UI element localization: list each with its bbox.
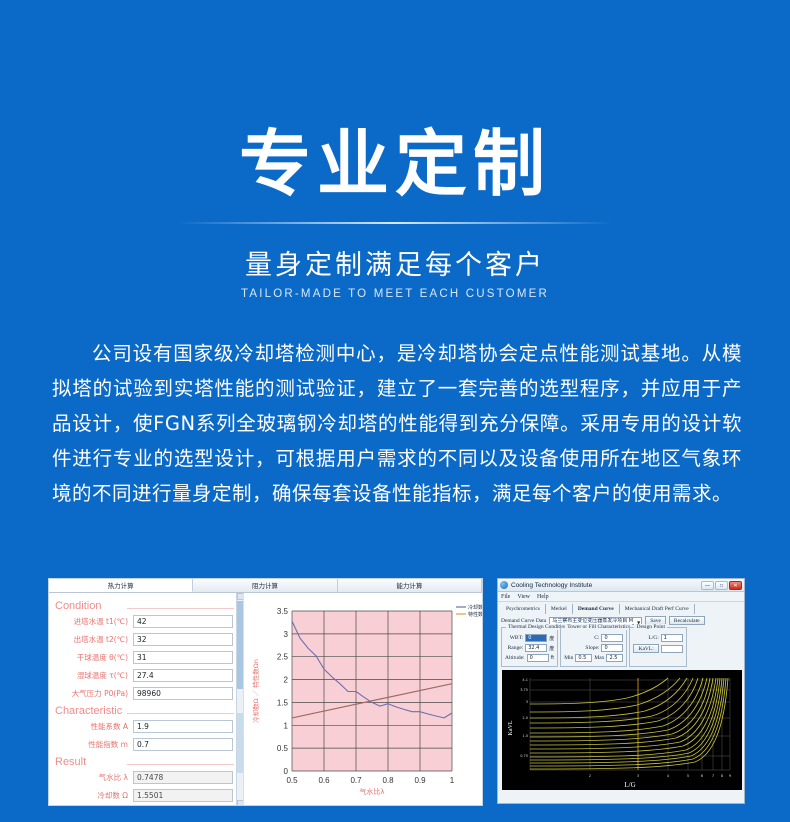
left-app-body: Condition 进塔水温 t1(℃) 42 出塔水温 t2(℃) 32 干球… bbox=[49, 593, 482, 806]
tab-capacity-calc[interactable]: 能力计算 bbox=[338, 579, 482, 592]
range-input[interactable]: 32.4 bbox=[525, 644, 547, 652]
field-characteristic-number: 特性数 Ωn 1.5503 bbox=[53, 805, 240, 806]
kavl-input[interactable] bbox=[661, 645, 683, 653]
tab-thermal-calc[interactable]: 热力计算 bbox=[49, 579, 193, 592]
result-section-title: Result bbox=[55, 756, 240, 768]
svg-text:6: 6 bbox=[701, 774, 703, 778]
demand-curve-svg: 4.1 3.75 3 2.0 1.0 0.75 2 3 4 5 6 7 8 9 bbox=[502, 670, 742, 790]
chart-x-axis-label: 气水比λ bbox=[359, 787, 384, 796]
field-inlet-water-temp: 进塔水温 t1(℃) 42 bbox=[53, 613, 240, 630]
field-slope: Slope: 0 bbox=[564, 644, 623, 652]
lg-input[interactable]: 1 bbox=[661, 634, 683, 642]
svg-text:0.8: 0.8 bbox=[382, 776, 394, 785]
field-performance-exponent: 性能指数 m 0.7 bbox=[53, 736, 240, 753]
svg-text:5: 5 bbox=[687, 774, 689, 778]
field-unit: ft bbox=[551, 655, 555, 661]
svg-text:0.7: 0.7 bbox=[350, 776, 362, 785]
app-logo-icon bbox=[500, 581, 508, 589]
field-label: 湿球温度 τ(℃) bbox=[53, 670, 133, 681]
svg-text:1: 1 bbox=[284, 721, 289, 730]
svg-text:2.0: 2.0 bbox=[522, 716, 528, 720]
svg-text:1: 1 bbox=[450, 776, 455, 785]
field-wbt: WBT: 0 度 bbox=[505, 634, 554, 642]
svg-text:0.9: 0.9 bbox=[414, 776, 426, 785]
characteristic-section-title: Characteristic bbox=[55, 705, 240, 717]
field-lg: L/G: 1 bbox=[633, 634, 682, 642]
thermal-chart-svg: 3.5 3 2.5 2 1.5 1 0.5 0 0.5 0.6 0.7 bbox=[244, 593, 482, 806]
wave-svg bbox=[0, 0, 790, 95]
max-label: Max bbox=[594, 655, 604, 661]
field-kavl: KaVL: bbox=[633, 644, 682, 653]
svg-text:3: 3 bbox=[637, 774, 639, 778]
window-titlebar: Cooling Technology Institute — □ ✕ bbox=[498, 579, 744, 592]
atmospheric-pressure-input[interactable]: 98960 bbox=[133, 687, 233, 700]
inlet-water-temp-input[interactable]: 42 bbox=[133, 615, 233, 628]
tab-resistance-calc[interactable]: 阻力计算 bbox=[193, 579, 337, 592]
right-app-tabbar: Psychrometrics Merkel Demand Curve Mecha… bbox=[498, 602, 744, 614]
svg-text:0: 0 bbox=[284, 767, 289, 776]
condition-section-title: Condition bbox=[55, 600, 240, 612]
demand-x-axis-label: L/G bbox=[624, 781, 635, 789]
left-app-tabbar: 热力计算 阻力计算 能力计算 bbox=[49, 579, 482, 593]
parameter-form-pane: Condition 进塔水温 t1(℃) 42 出塔水温 t2(℃) 32 干球… bbox=[49, 593, 243, 806]
form-vertical-scrollbar[interactable] bbox=[236, 593, 243, 806]
slope-input[interactable]: 0 bbox=[601, 644, 623, 652]
field-label: Altitude: bbox=[505, 655, 525, 661]
field-atmospheric-pressure: 大气压力 P0(Pa) 98960 bbox=[53, 685, 240, 702]
demand-curve-chart: 4.1 3.75 3 2.0 1.0 0.75 2 3 4 5 6 7 8 9 bbox=[502, 670, 740, 790]
thermal-calculation-app: 热力计算 阻力计算 能力计算 Condition 进塔水温 t1(℃) 42 出… bbox=[48, 578, 483, 806]
thermal-design-conditions-group: Thermal Design Conditions WBT: 0 度 Range… bbox=[501, 627, 558, 667]
svg-text:0.75: 0.75 bbox=[520, 754, 528, 758]
svg-text:特性数Ωn: 特性数Ωn bbox=[468, 611, 482, 618]
svg-text:3: 3 bbox=[526, 700, 528, 704]
field-label: 干球温度 θ(℃) bbox=[53, 652, 133, 663]
window-control-buttons: — □ ✕ bbox=[701, 581, 742, 590]
tab-psychrometrics[interactable]: Psychrometrics bbox=[501, 604, 546, 614]
demand-curve-data-label: Demand Curve Data bbox=[501, 618, 546, 624]
svg-text:8: 8 bbox=[721, 774, 723, 778]
field-min-max: Min 0.5 Max 2.5 bbox=[564, 654, 623, 662]
svg-text:2: 2 bbox=[589, 774, 591, 778]
field-cooling-number: 冷却数 Ω 1.5501 bbox=[53, 787, 240, 804]
page-subtitle: 量身定制满足每个客户 bbox=[0, 243, 790, 282]
field-label: 大气压力 P0(Pa) bbox=[53, 688, 133, 699]
window-title: Cooling Technology Institute bbox=[511, 582, 701, 589]
tab-mechanical-draft-perf-curve[interactable]: Mechanical Draft Perf Curve bbox=[620, 604, 695, 614]
field-air-water-ratio: 气水比 λ 0.7478 bbox=[53, 769, 240, 786]
demand-y-axis-label: KaVL bbox=[508, 720, 514, 735]
menu-view[interactable]: View bbox=[517, 592, 530, 601]
hero-wave-decoration bbox=[0, 0, 790, 95]
performance-coefficient-input[interactable]: 1.9 bbox=[133, 720, 233, 733]
field-label: WBT: bbox=[510, 635, 523, 641]
tower-fill-characteristics-group: Tower or Fill Characteristics C: 0 Slope… bbox=[560, 627, 627, 667]
field-wet-bulb-temp: 湿球温度 τ(℃) 27.4 bbox=[53, 667, 240, 684]
tab-demand-curve[interactable]: Demand Curve bbox=[573, 604, 620, 614]
air-water-ratio-value: 0.7478 bbox=[133, 771, 233, 784]
svg-text:1.0: 1.0 bbox=[522, 734, 528, 738]
minimize-icon[interactable]: — bbox=[701, 581, 714, 590]
combobox-value: 乌兰察布主变位变压器蒸发冷项目 M bbox=[552, 618, 633, 624]
svg-text:9: 9 bbox=[729, 774, 731, 778]
field-altitude: Altitude: 0 ft bbox=[505, 654, 554, 662]
svg-text:2: 2 bbox=[284, 676, 289, 685]
c-input[interactable]: 0 bbox=[601, 634, 623, 642]
menubar: File View Help bbox=[498, 592, 744, 602]
menu-help[interactable]: Help bbox=[537, 592, 549, 601]
field-unit: 度 bbox=[549, 645, 554, 652]
parameter-groups: Thermal Design Conditions WBT: 0 度 Range… bbox=[498, 627, 744, 667]
maximize-icon[interactable]: □ bbox=[715, 581, 728, 590]
dry-bulb-temp-input[interactable]: 31 bbox=[133, 651, 233, 664]
field-label: 气水比 λ bbox=[53, 772, 133, 783]
field-label: 性能系数 A bbox=[53, 721, 133, 732]
group-caption: Tower or Fill Characteristics bbox=[565, 624, 632, 630]
field-label: 出塔水温 t2(℃) bbox=[53, 634, 133, 645]
tab-merkel[interactable]: Merkel bbox=[546, 604, 573, 614]
performance-exponent-input[interactable]: 0.7 bbox=[133, 738, 233, 751]
svg-text:3: 3 bbox=[284, 630, 289, 639]
field-label: Slope: bbox=[585, 645, 599, 651]
group-caption: Design Point bbox=[634, 624, 667, 630]
field-label: C: bbox=[594, 635, 599, 641]
field-dry-bulb-temp: 干球温度 θ(℃) 31 bbox=[53, 649, 240, 666]
field-c: C: 0 bbox=[564, 634, 623, 642]
recalculate-button[interactable]: Recalculate bbox=[669, 616, 705, 625]
outlet-water-temp-input[interactable]: 32 bbox=[133, 633, 233, 646]
svg-text:0.5: 0.5 bbox=[286, 776, 298, 785]
svg-text:3.75: 3.75 bbox=[520, 688, 528, 692]
menu-file[interactable]: File bbox=[501, 592, 510, 601]
chart-y-axis-label: 冷却数Ω ／ 特性数Ωn bbox=[251, 659, 260, 723]
page-subtitle-english: TAILOR-MADE TO MEET EACH CUSTOMER bbox=[0, 288, 790, 300]
altitude-input[interactable]: 0 bbox=[527, 654, 549, 662]
kavl-button[interactable]: KaVL: bbox=[633, 644, 658, 653]
company-description-paragraph: 公司设有国家级冷却塔检测中心，是冷却塔协会定点性能测试基地。从模拟塔的试验到实塔… bbox=[52, 336, 742, 511]
cooling-number-value: 1.5501 bbox=[133, 789, 233, 802]
field-label: 进塔水温 t1(℃) bbox=[53, 616, 133, 627]
field-label: 性能指数 m bbox=[53, 739, 133, 750]
svg-text:3.5: 3.5 bbox=[277, 607, 289, 616]
min-label: Min bbox=[564, 655, 573, 661]
svg-text:7: 7 bbox=[712, 774, 714, 778]
svg-text:0.5: 0.5 bbox=[277, 744, 289, 753]
software-screenshots-strip: 热力计算 阻力计算 能力计算 Condition 进塔水温 t1(℃) 42 出… bbox=[0, 578, 790, 810]
design-point-group: Design Point L/G: 1 KaVL: bbox=[629, 627, 686, 667]
close-icon[interactable]: ✕ bbox=[729, 581, 742, 590]
page-title: 专业定制 bbox=[0, 128, 790, 200]
field-label: Range: bbox=[508, 645, 524, 651]
cooling-technology-institute-app: Cooling Technology Institute — □ ✕ File … bbox=[497, 578, 745, 804]
svg-text:1.5: 1.5 bbox=[277, 698, 289, 707]
min-spinner[interactable]: 0.5 bbox=[575, 654, 592, 662]
thermal-chart-pane: 3.5 3 2.5 2 1.5 1 0.5 0 0.5 0.6 0.7 bbox=[243, 593, 482, 806]
field-range: Range: 32.4 度 bbox=[505, 644, 554, 652]
svg-text:4.1: 4.1 bbox=[522, 678, 528, 682]
svg-text:冷却数Ω: 冷却数Ω bbox=[468, 604, 482, 611]
svg-text:2.5: 2.5 bbox=[277, 653, 289, 662]
title-divider bbox=[178, 222, 612, 224]
wet-bulb-temp-input[interactable]: 27.4 bbox=[133, 669, 233, 682]
field-label: L/G: bbox=[648, 635, 658, 641]
field-outlet-water-temp: 出塔水温 t2(℃) 32 bbox=[53, 631, 240, 648]
wbt-input[interactable]: 0 bbox=[525, 634, 547, 642]
field-label: 冷却数 Ω bbox=[53, 790, 133, 801]
max-spinner[interactable]: 2.5 bbox=[606, 654, 623, 662]
field-performance-coefficient: 性能系数 A 1.9 bbox=[53, 718, 240, 735]
field-unit: 度 bbox=[549, 635, 554, 642]
svg-text:0.6: 0.6 bbox=[318, 776, 330, 785]
